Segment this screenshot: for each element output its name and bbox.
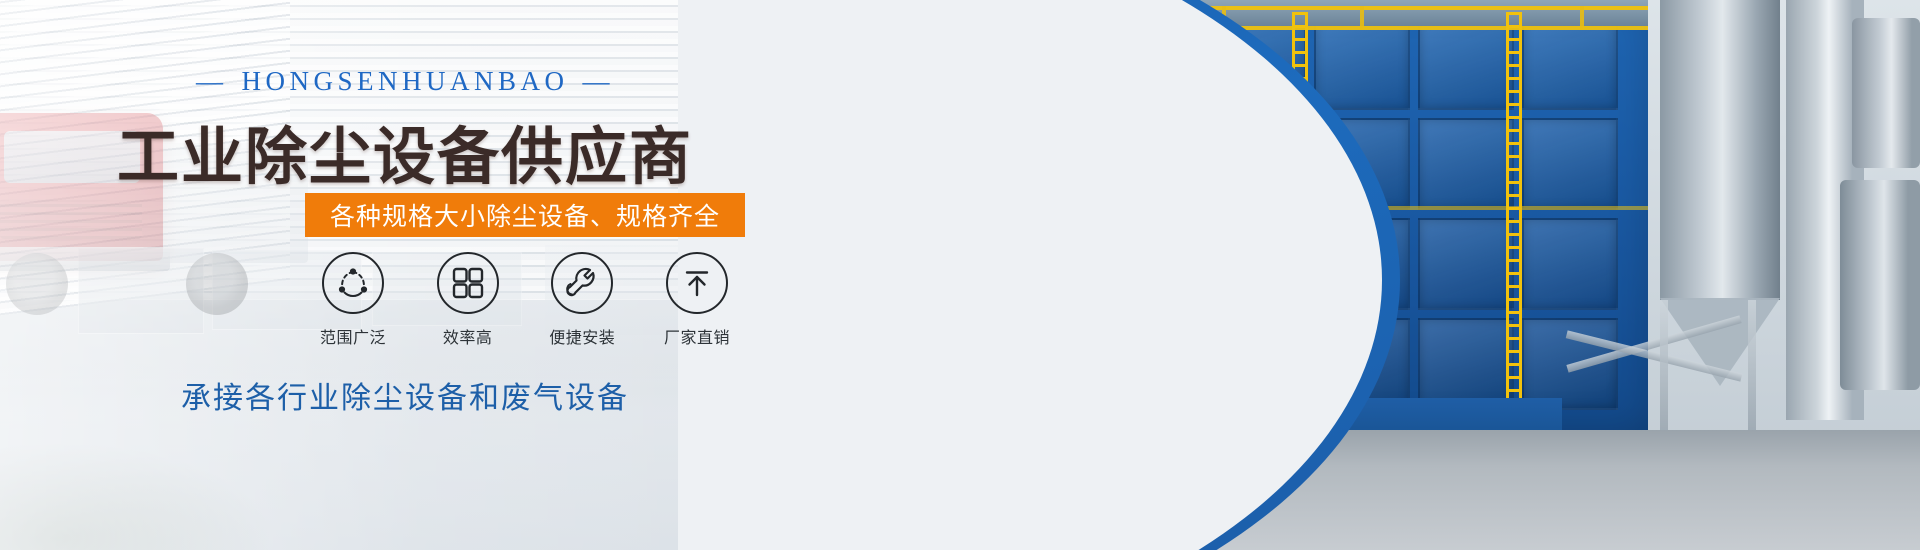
baghouse-cell (1522, 18, 1618, 110)
yellow-ladder (1506, 12, 1522, 430)
dash-right-decoration: — (569, 66, 629, 97)
support-column (1748, 300, 1756, 430)
yellow-railing-post (1360, 6, 1364, 30)
storage-tank (1840, 180, 1920, 390)
feature-label: 范围广泛 (305, 324, 401, 348)
hero-banner: —HONGSENHUANBAO— 工业除尘设备供应商 各种规格大小除尘设备、规格… (0, 0, 1920, 550)
network-nodes-icon (322, 252, 384, 314)
orange-subtitle-text: 各种规格大小除尘设备、规格齐全 (330, 197, 720, 233)
storage-tank (1852, 18, 1920, 168)
baghouse-cell (1418, 318, 1514, 410)
baghouse-cell (1314, 318, 1410, 410)
dash-left-decoration: — (182, 66, 242, 97)
baghouse-cell (1314, 18, 1410, 110)
feature-item-installation[interactable]: 便捷安装 (534, 252, 630, 348)
baghouse-cell (1522, 218, 1618, 310)
wrench-tool-icon (551, 252, 613, 314)
support-column (1660, 300, 1668, 430)
baghouse-cell (1314, 118, 1410, 210)
feature-label: 厂家直销 (649, 324, 745, 348)
yellow-railing-post (1222, 6, 1226, 30)
orange-subtitle-bar: 各种规格大小除尘设备、规格齐全 (305, 193, 745, 237)
brand-name-latin: HONGSENHUANBAO (241, 66, 568, 96)
feature-item-efficiency[interactable]: 效率高 (420, 252, 516, 348)
factory-hall-door (1044, 422, 1136, 540)
baghouse-cell (1522, 118, 1618, 210)
banner-content: —HONGSENHUANBAO— 工业除尘设备供应商 各种规格大小除尘设备、规格… (0, 0, 900, 550)
cyclone-separator (1660, 0, 1780, 300)
baghouse-cell (1418, 118, 1514, 210)
feature-item-coverage[interactable]: 范围广泛 (305, 252, 401, 348)
baghouse-cell (1418, 218, 1514, 310)
baghouse-cell (1418, 18, 1514, 110)
blue-duct-column (1148, 120, 1204, 420)
feature-list: 范围广泛 效率高 (305, 252, 745, 362)
yellow-railing-post (1580, 6, 1584, 30)
upload-arrow-icon (666, 252, 728, 314)
factory-equipment-photo (960, 0, 1920, 550)
yellow-railing (1198, 206, 1648, 210)
feature-item-factory-direct[interactable]: 厂家直销 (649, 252, 745, 348)
brand-eyebrow: —HONGSENHUANBAO— (0, 66, 810, 97)
yellow-ladder (1292, 12, 1308, 430)
feature-label: 效率高 (420, 324, 516, 348)
feature-label: 便捷安装 (534, 324, 630, 348)
banner-tagline: 承接各行业除尘设备和废气设备 (0, 373, 810, 417)
concrete-ground (1212, 430, 1920, 550)
page-title: 工业除尘设备供应商 (0, 106, 810, 196)
baghouse-cell (1314, 218, 1410, 310)
four-squares-grid-icon (437, 252, 499, 314)
